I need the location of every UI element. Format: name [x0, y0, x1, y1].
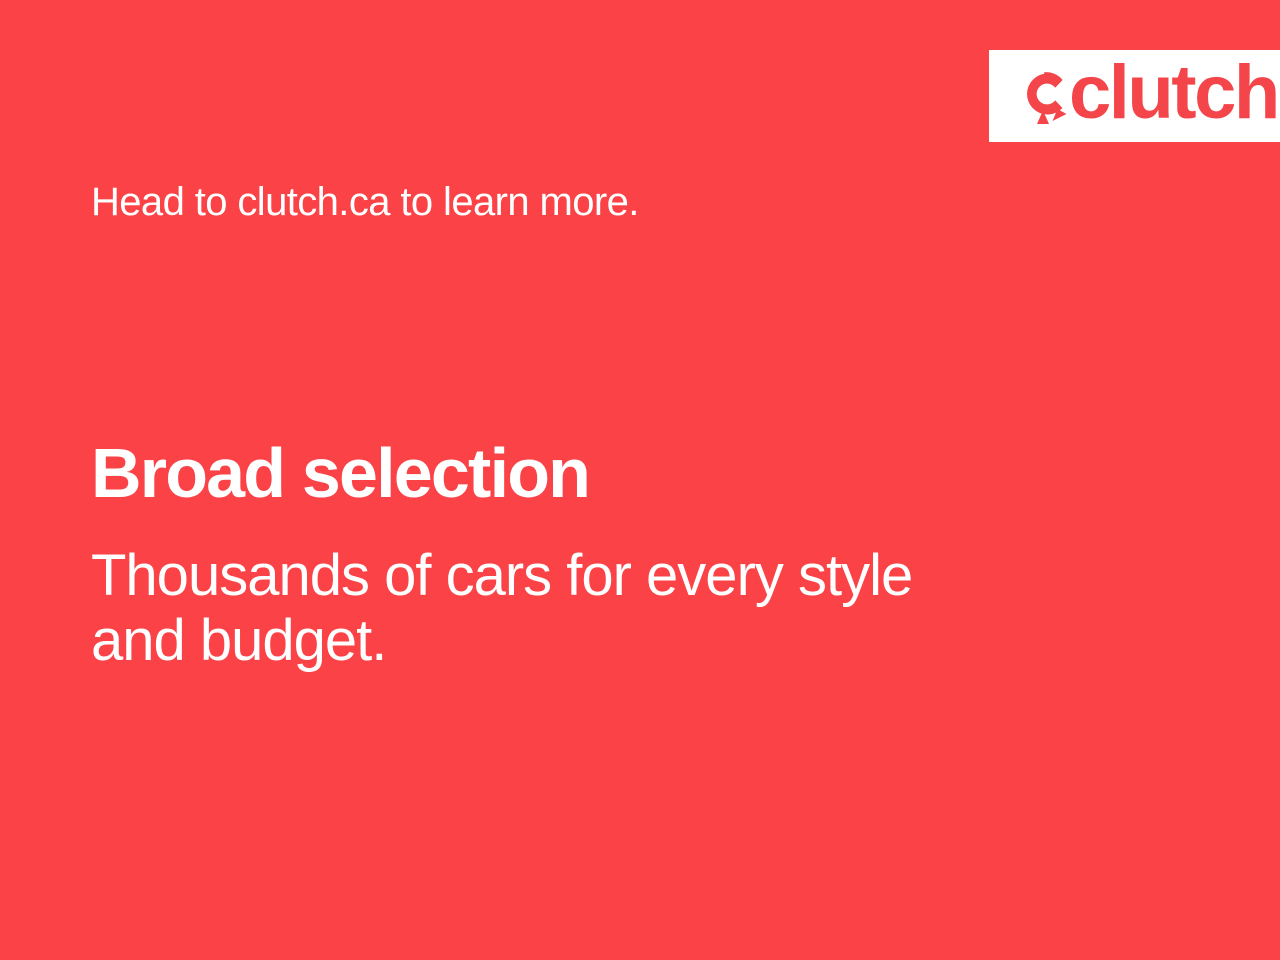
subheading-line-1: Thousands of cars for every style: [91, 544, 1051, 609]
clutch-c-mark-icon: [1019, 68, 1069, 124]
eyebrow-text: Head to clutch.ca to learn more.: [91, 180, 639, 225]
brand-logo-badge: clutch: [989, 50, 1280, 142]
page-title: Broad selection: [91, 436, 589, 510]
promo-slide: clutch Head to clutch.ca to learn more. …: [0, 0, 1280, 960]
brand-wordmark: clutch: [1069, 55, 1278, 131]
subheading-line-2: and budget.: [91, 609, 1051, 674]
brand-logo-lockup: clutch: [1019, 65, 1278, 127]
subheading: Thousands of cars for every style and bu…: [91, 544, 1051, 674]
